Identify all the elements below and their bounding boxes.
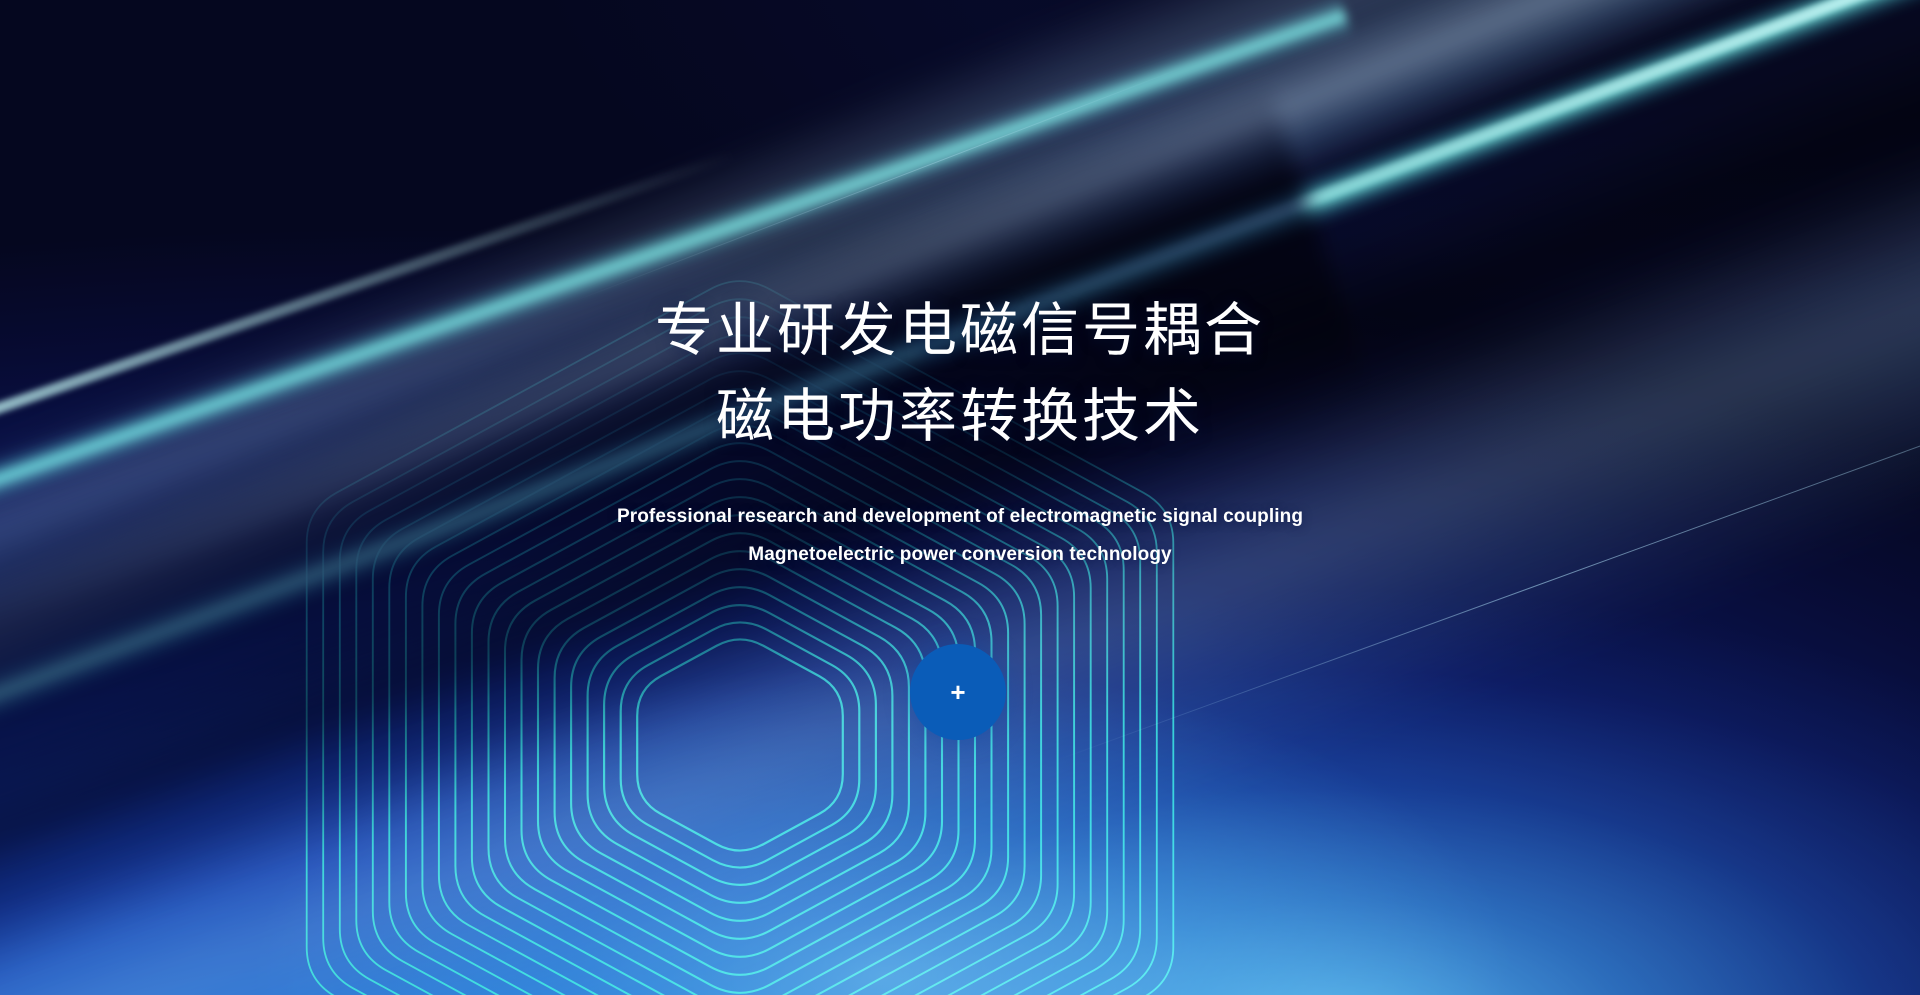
hero-content: 专业研发电磁信号耦合 磁电功率转换技术 Professional researc… [0,0,1920,995]
expand-more-button[interactable]: + [910,644,1006,740]
page-title: 专业研发电磁信号耦合 磁电功率转换技术 [0,288,1920,460]
page-subtitle: Professional research and development of… [0,498,1920,574]
subtitle-line-1: Professional research and development of… [617,506,1303,527]
headline-line-2: 磁电功率转换技术 [0,374,1920,460]
headline-line-1: 专业研发电磁信号耦合 [655,298,1265,363]
hero-banner: 专业研发电磁信号耦合 磁电功率转换技术 Professional researc… [0,0,1920,995]
plus-icon: + [910,644,1006,740]
subtitle-line-2: Magnetoelectric power conversion technol… [0,536,1920,574]
